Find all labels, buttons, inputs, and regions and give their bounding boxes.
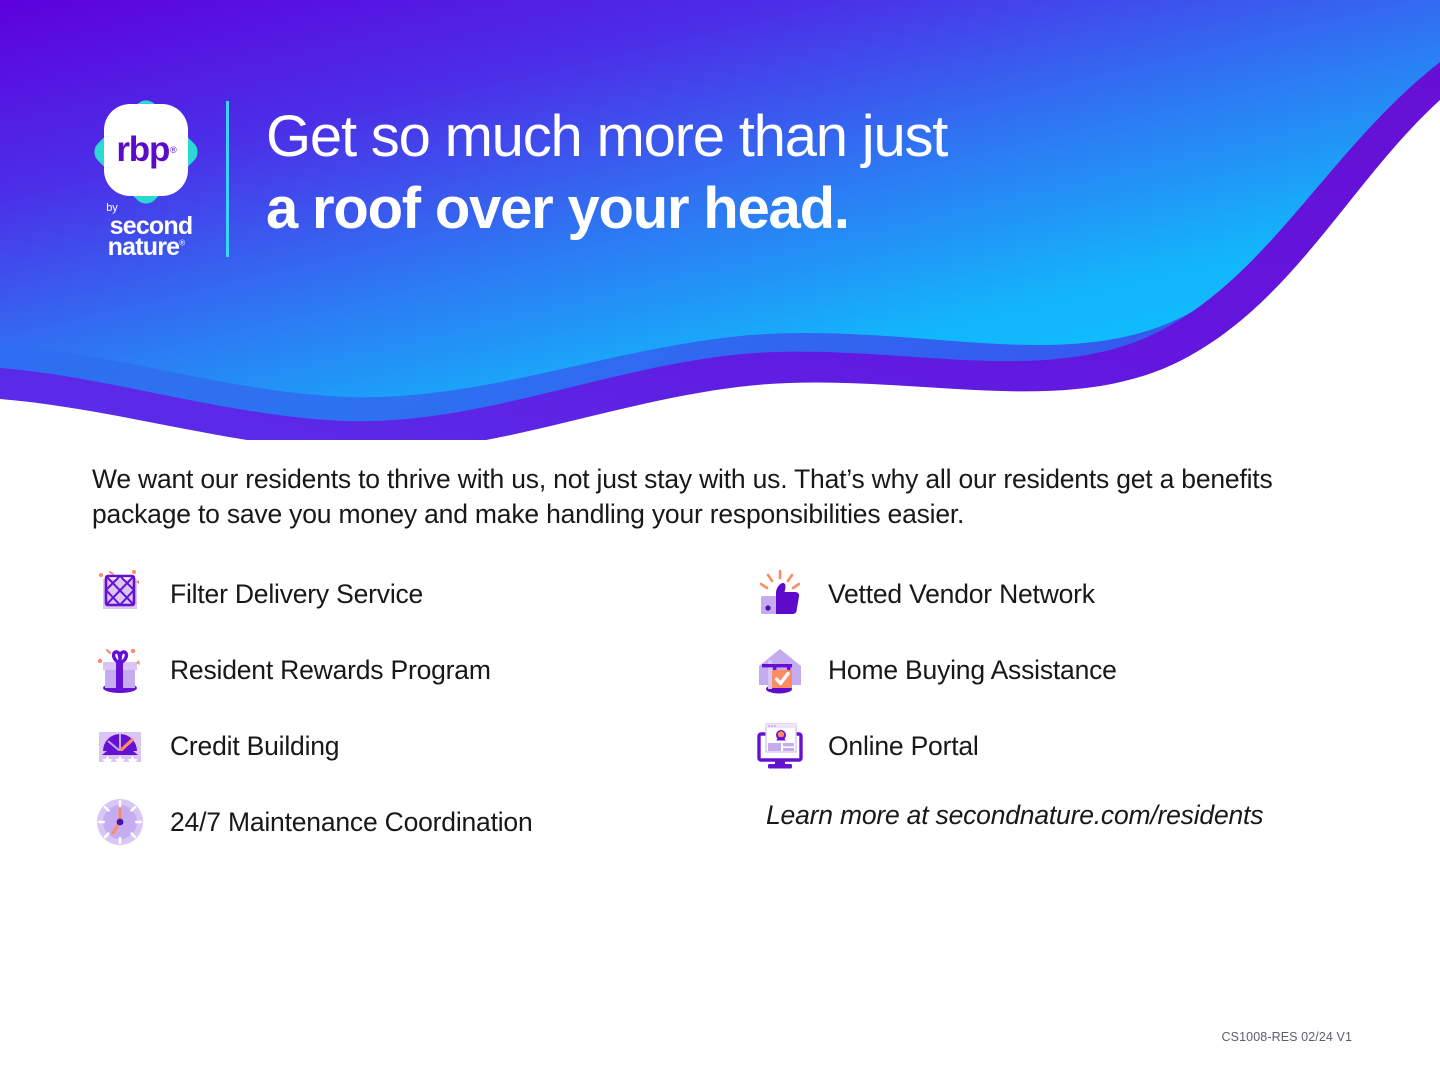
benefit-item-filter-delivery-service: Filter Delivery Service — [92, 556, 752, 632]
logo-rbp-text: rbp — [116, 130, 169, 170]
benefits-left-column: Filter Delivery Service Resident Rewards… — [92, 556, 752, 860]
intro-paragraph: We want our residents to thrive with us,… — [92, 462, 1307, 532]
hero-banner: rbp® by second nature® Get so much more … — [0, 0, 1440, 440]
brand-logo-lockup: rbp® by second nature® — [88, 98, 204, 258]
benefits-list: Filter Delivery Service Resident Rewards… — [92, 556, 1352, 860]
benefit-item-vetted-vendor-network: Vetted Vendor Network — [752, 556, 1352, 632]
benefit-label: 24/7 Maintenance Coordination — [170, 807, 533, 838]
rbp-logo-mark: rbp® — [92, 98, 200, 206]
benefit-item-credit-building: Credit Building — [92, 708, 752, 784]
learn-more-text[interactable]: Learn more at secondnature.com/residents — [766, 800, 1352, 831]
credit-gauge-icon — [92, 718, 148, 774]
benefits-right-column: Vetted Vendor Network Home Buying Assist… — [752, 556, 1352, 860]
benefit-label: Home Buying Assistance — [828, 655, 1117, 686]
air-filter-icon — [92, 566, 148, 622]
gift-box-icon — [92, 642, 148, 698]
benefit-item-home-buying-assistance: Home Buying Assistance — [752, 632, 1352, 708]
benefit-label: Resident Rewards Program — [170, 655, 491, 686]
thumbs-up-icon — [752, 566, 808, 622]
hero-headline: Get so much more than just a roof over y… — [266, 108, 947, 238]
by-label: by — [106, 202, 118, 214]
headline-line-1: Get so much more than just — [266, 108, 947, 166]
benefit-label: Online Portal — [828, 731, 979, 762]
headline-line-2: a roof over your head. — [266, 180, 947, 238]
logo-rbp-wordmark: rbp® — [92, 104, 200, 196]
house-sold-sign-icon — [752, 642, 808, 698]
benefit-item-online-portal: Online Portal — [752, 708, 1352, 784]
benefit-item-resident-rewards-program: Resident Rewards Program — [92, 632, 752, 708]
logo-registered-mark: ® — [170, 145, 175, 155]
benefit-label: Credit Building — [170, 731, 339, 762]
benefit-item-maintenance-coordination: 24/7 Maintenance Coordination — [92, 784, 752, 860]
benefit-label: Filter Delivery Service — [170, 579, 423, 610]
benefit-label: Vetted Vendor Network — [828, 579, 1095, 610]
company-registered-mark: ® — [179, 239, 184, 248]
clock-icon — [92, 794, 148, 850]
desktop-monitor-icon — [752, 718, 808, 774]
vertical-divider — [226, 101, 229, 257]
by-second-nature-wordmark: by second nature® — [88, 210, 204, 260]
document-code: CS1008-RES 02/24 V1 — [1222, 1030, 1352, 1044]
